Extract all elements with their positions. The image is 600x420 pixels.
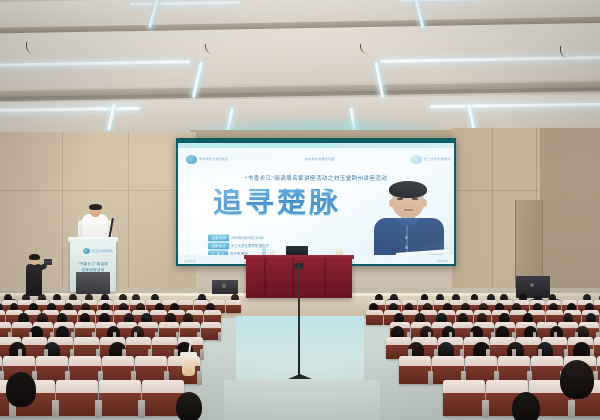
- slide-info-row: 讲座时间 2023年4月23日 14:30: [208, 235, 265, 241]
- slide-credit-left: 主办单位: [184, 259, 195, 263]
- drape-fold: [324, 258, 326, 298]
- stage-monitor-speaker: [212, 280, 238, 294]
- seat-headrest: [399, 356, 431, 366]
- seat-headrest: [546, 310, 563, 315]
- auditorium-seat: [99, 380, 141, 416]
- slide-main-title: 追寻楚脉: [182, 189, 372, 218]
- auditorium-seat: [366, 310, 383, 325]
- seat-headrest: [204, 310, 221, 315]
- audience-head: [176, 392, 202, 420]
- audience-head: [560, 360, 594, 399]
- info-value-time: 2023年4月23日 14:30: [231, 236, 264, 240]
- seat-headrest: [0, 356, 2, 366]
- seat-headrest: [126, 337, 151, 345]
- seat-headrest: [159, 322, 179, 328]
- seat-armrest: [218, 332, 221, 341]
- seat-headrest: [0, 310, 5, 315]
- university-emblem-icon: [186, 155, 197, 164]
- portrait-ear: [422, 199, 427, 207]
- seat-headrest: [386, 337, 411, 345]
- seat-headrest: [75, 322, 95, 328]
- info-tag-time: 讲座时间: [208, 235, 230, 242]
- seat-headrest: [366, 310, 383, 315]
- seat-headrest: [201, 322, 221, 328]
- drape-fold: [264, 258, 266, 298]
- seat-headrest: [56, 380, 98, 393]
- drink-cup: [182, 356, 195, 376]
- seat-headrest: [3, 356, 35, 366]
- wall-panel-seam: [492, 128, 493, 313]
- podium-top: [68, 237, 118, 242]
- organizer-logo: 中共荆州市委宣传部: [305, 157, 330, 161]
- seat-headrest: [69, 356, 101, 366]
- seat-headrest: [0, 322, 11, 328]
- seat-headrest: [12, 322, 32, 328]
- seat-headrest: [443, 380, 485, 393]
- seat-headrest: [498, 356, 530, 366]
- info-tag-place: 讲座地点: [208, 243, 230, 250]
- ceiling: [0, 0, 600, 148]
- center-aisle-near: [224, 380, 380, 420]
- seat-headrest: [22, 337, 47, 345]
- seat-headrest: [135, 356, 167, 366]
- seat-headrest: [150, 310, 167, 315]
- audience-head: [6, 372, 36, 407]
- seat-armrest: [95, 400, 102, 418]
- auditorium-seat: [226, 300, 241, 313]
- venue-logo-label: 长江大学文理学院: [424, 157, 450, 162]
- speaker-driver-icon: [222, 284, 226, 288]
- ceiling-cable: [26, 42, 39, 54]
- lecture-hall-photo: 华中师范大学出版社 中共荆州市委宣传部 长江大学文理学院 “书香长江”阅读周名家…: [0, 0, 600, 420]
- seat-headrest: [180, 322, 200, 328]
- audience-head: [512, 392, 540, 420]
- organizer-logo-label: 中共荆州市委宣传部: [305, 157, 335, 162]
- podium-base-shadow: [76, 272, 110, 294]
- ceiling-cable: [560, 46, 573, 58]
- podium-logo-label: 长江大学文理学院: [92, 249, 113, 253]
- portrait-ear: [389, 199, 394, 207]
- speaker-driver-icon: [530, 283, 534, 287]
- slide-top-bar: [178, 143, 454, 148]
- microphone-stand: [298, 265, 300, 377]
- seat-headrest: [74, 337, 99, 345]
- slide-credit-right: 承办单位: [437, 259, 448, 263]
- portrait-hair: [389, 181, 427, 198]
- auditorium-seat: [399, 356, 431, 384]
- seat-armrest: [428, 371, 433, 385]
- ceiling-panel: [0, 22, 600, 90]
- seat-armrest: [138, 400, 145, 418]
- seat-headrest: [178, 300, 193, 305]
- auditorium-seat: [56, 380, 98, 416]
- seat-headrest: [102, 356, 134, 366]
- seat-armrest: [568, 400, 575, 418]
- venue-logo: 长江大学文理学院: [411, 155, 446, 164]
- slide-guest-portrait: [370, 182, 448, 264]
- seat-headrest: [226, 300, 241, 305]
- seat-armrest: [200, 349, 204, 360]
- seat-headrest: [594, 300, 600, 305]
- seat-armrest: [197, 371, 202, 385]
- seat-armrest: [482, 400, 489, 418]
- podium-title-line1: “书香长江”阅读周: [70, 262, 116, 267]
- camera-icon: [44, 259, 52, 265]
- seat-headrest: [465, 356, 497, 366]
- seat-headrest: [486, 380, 528, 393]
- seat-headrest: [99, 380, 141, 393]
- podium-emblem-icon: [83, 248, 90, 254]
- seat-headrest: [531, 356, 563, 366]
- seat-headrest: [453, 322, 473, 328]
- presenter-hair: [89, 204, 102, 210]
- slide-logo-row: 华中师范大学出版社 中共荆州市委宣传部 长江大学文理学院: [186, 152, 446, 166]
- seat-headrest: [152, 337, 177, 345]
- venue-emblem-icon: [411, 155, 422, 164]
- projection-screen[interactable]: 华中师范大学出版社 中共荆州市委宣传部 长江大学文理学院 “书香长江”阅读周名家…: [178, 143, 454, 264]
- auditorium-seat: [443, 380, 485, 416]
- host-university-logo: 华中师范大学出版社: [186, 155, 224, 164]
- seat-headrest: [36, 356, 68, 366]
- portrait-mouth: [404, 209, 413, 211]
- seat-headrest: [432, 356, 464, 366]
- seat-headrest: [594, 337, 600, 345]
- photographer-hair: [29, 254, 40, 260]
- seat-armrest: [52, 400, 59, 418]
- seat-headrest: [142, 380, 184, 393]
- slide-info-row: 讲座地点 长江大学文理学院 报告厅: [208, 243, 265, 249]
- host-university-logo-label: 华中师范大学出版社: [199, 157, 229, 162]
